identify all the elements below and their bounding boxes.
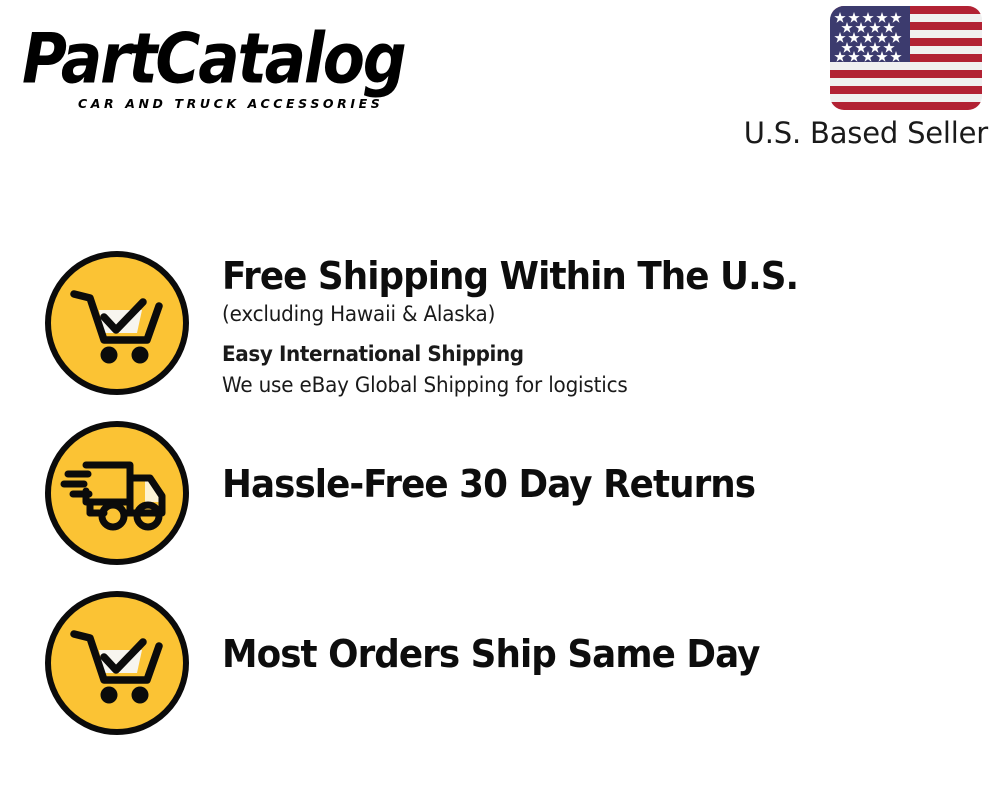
shopping-cart-check-icon bbox=[42, 248, 192, 398]
feature-subheading: Easy International Shipping bbox=[222, 339, 804, 369]
feature-row: Most Orders Ship Same Day bbox=[0, 588, 1000, 738]
feature-text-block: Most Orders Ship Same Day bbox=[222, 588, 794, 676]
shopping-cart-check-icon bbox=[42, 588, 192, 738]
feature-row: Free Shipping Within The U.S. (excluding… bbox=[0, 248, 1000, 400]
us-based-seller-label: U.S. Based Seller bbox=[712, 116, 988, 150]
brand-wordmark: PartCatalog bbox=[22, 22, 487, 96]
brand-logo[interactable]: PartCatalog CAR AND TRUCK ACCESSORIES bbox=[22, 22, 492, 117]
feature-title: Free Shipping Within The U.S. bbox=[222, 254, 798, 298]
feature-text-block: Free Shipping Within The U.S. (excluding… bbox=[222, 248, 835, 400]
page-header: PartCatalog CAR AND TRUCK ACCESSORIES bbox=[0, 0, 1000, 175]
feature-text-block: Hassle-Free 30 Day Returns bbox=[222, 418, 789, 506]
us-flag-icon bbox=[830, 6, 982, 110]
feature-note: (excluding Hawaii & Alaska) bbox=[222, 299, 804, 329]
brand-tagline: CAR AND TRUCK ACCESSORIES bbox=[78, 96, 383, 111]
feature-row: Hassle-Free 30 Day Returns bbox=[0, 418, 1000, 568]
feature-subtext: We use eBay Global Shipping for logistic… bbox=[222, 370, 804, 400]
feature-title: Most Orders Ship Same Day bbox=[222, 632, 760, 676]
us-based-seller-badge: U.S. Based Seller bbox=[712, 6, 992, 150]
delivery-truck-icon bbox=[42, 418, 192, 568]
feature-title: Hassle-Free 30 Day Returns bbox=[222, 462, 755, 506]
